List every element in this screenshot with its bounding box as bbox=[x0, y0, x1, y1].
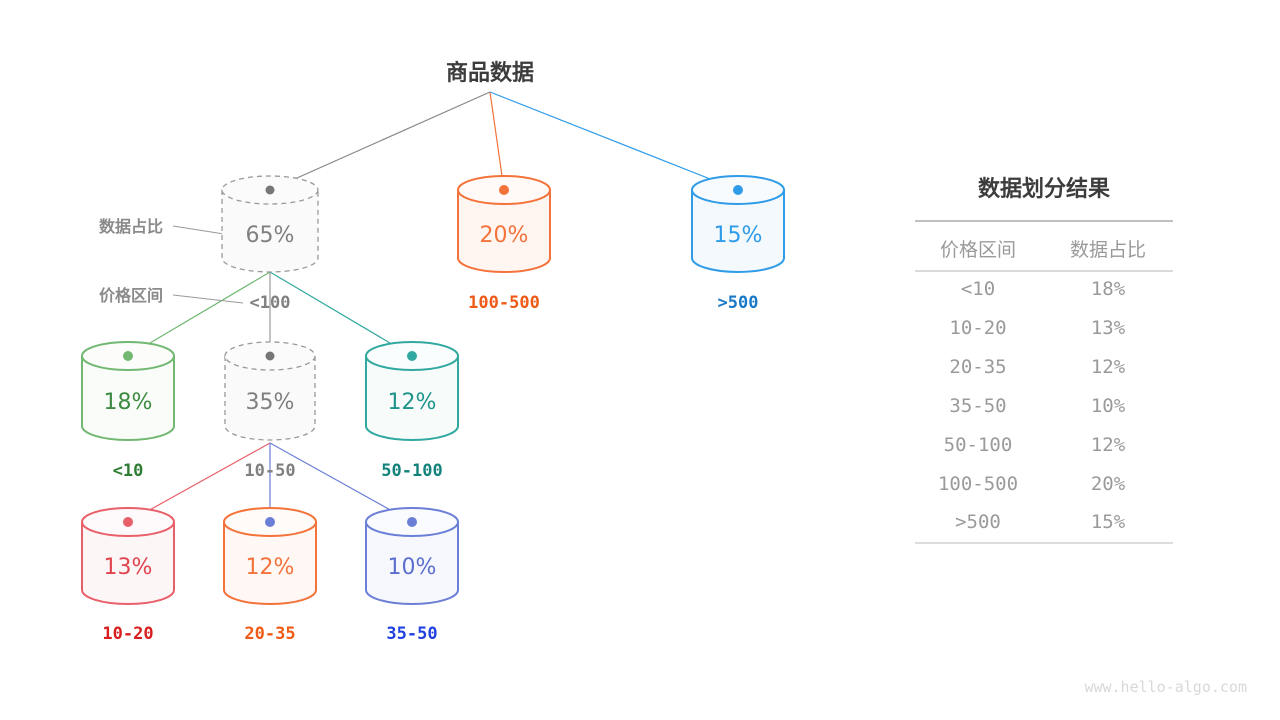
node-range-100-500: 100-500 bbox=[468, 293, 540, 313]
node-range-lt10: <10 bbox=[113, 461, 144, 481]
node-percent: 35% bbox=[246, 390, 295, 415]
node-100-500[interactable]: 20% bbox=[458, 176, 550, 272]
node-percent: 18% bbox=[104, 390, 153, 415]
node-percent: 10% bbox=[388, 555, 437, 580]
annotation-ratio-label: 数据占比 bbox=[99, 217, 163, 236]
node-20-35[interactable]: 12% bbox=[224, 508, 316, 604]
node-range-35-50: 35-50 bbox=[386, 624, 437, 644]
table-row: 20-35 12% bbox=[949, 356, 1125, 378]
anchor-dot bbox=[266, 186, 275, 195]
node-range-20-35: 20-35 bbox=[244, 624, 295, 644]
cell-range: 35-50 bbox=[949, 395, 1006, 417]
table-header-ratio: 数据占比 bbox=[1070, 239, 1146, 261]
table-header-range: 价格区间 bbox=[940, 239, 1016, 261]
cell-ratio: 15% bbox=[1091, 511, 1126, 533]
anchor-dot bbox=[733, 185, 743, 195]
connector-root-gt500 bbox=[490, 92, 738, 190]
annotation-range-label: 价格区间 bbox=[99, 286, 163, 305]
node-35-50[interactable]: 10% bbox=[366, 508, 458, 604]
anchor-dot bbox=[266, 352, 275, 361]
node-percent: 13% bbox=[104, 555, 153, 580]
node-lt10[interactable]: 18% bbox=[82, 342, 174, 440]
node-range-50-100: 50-100 bbox=[381, 461, 442, 481]
table-row: >500 15% bbox=[955, 511, 1126, 533]
node-lt100[interactable]: 65% bbox=[222, 176, 318, 272]
cell-ratio: 12% bbox=[1091, 356, 1126, 378]
node-10-20[interactable]: 13% bbox=[82, 508, 174, 604]
table-row: <10 18% bbox=[961, 278, 1126, 300]
cell-ratio: 20% bbox=[1091, 473, 1126, 495]
cell-range: 100-500 bbox=[938, 473, 1018, 495]
connector-root-lt100 bbox=[270, 92, 490, 190]
anchor-dot bbox=[407, 517, 417, 527]
leader-range bbox=[173, 295, 243, 303]
cell-range: 20-35 bbox=[949, 356, 1006, 378]
node-10-50[interactable]: 35% bbox=[225, 342, 315, 440]
cell-ratio: 10% bbox=[1091, 395, 1126, 417]
diagram-canvas: .pct { font-family:"DejaVu Sans","Libera… bbox=[0, 0, 1280, 720]
leader-ratio bbox=[173, 226, 224, 234]
node-range-lt100: <100 bbox=[250, 293, 291, 313]
table-row: 10-20 13% bbox=[949, 317, 1125, 339]
cell-range: 50-100 bbox=[944, 434, 1013, 456]
anchor-dot bbox=[123, 351, 133, 361]
node-percent: 65% bbox=[246, 223, 295, 248]
node-range-10-20: 10-20 bbox=[102, 624, 153, 644]
node-percent: 15% bbox=[714, 223, 763, 248]
result-table: 数据划分结果 价格区间 数据占比 <10 18% 10-20 13% 20-35… bbox=[915, 176, 1173, 543]
node-range-gt500: >500 bbox=[718, 293, 759, 313]
node-percent: 12% bbox=[388, 390, 437, 415]
anchor-dot bbox=[499, 185, 509, 195]
tree-diagram: .pct { font-family:"DejaVu Sans","Libera… bbox=[0, 0, 1280, 720]
node-range-10-50: 10-50 bbox=[244, 461, 295, 481]
anchor-dot bbox=[265, 517, 275, 527]
node-50-100[interactable]: 12% bbox=[366, 342, 458, 440]
node-gt500[interactable]: 15% bbox=[692, 176, 784, 272]
cell-range: 10-20 bbox=[949, 317, 1006, 339]
node-percent: 20% bbox=[480, 223, 529, 248]
node-percent: 12% bbox=[246, 555, 295, 580]
watermark: www.hello-algo.com bbox=[1084, 678, 1247, 696]
anchor-dot bbox=[123, 517, 133, 527]
cell-range: >500 bbox=[955, 511, 1001, 533]
table-row: 50-100 12% bbox=[944, 434, 1126, 456]
table-title: 数据划分结果 bbox=[978, 176, 1110, 202]
page-title: 商品数据 bbox=[446, 60, 534, 86]
cell-ratio: 18% bbox=[1091, 278, 1126, 300]
cell-ratio: 13% bbox=[1091, 317, 1126, 339]
cell-ratio: 12% bbox=[1091, 434, 1126, 456]
cell-range: <10 bbox=[961, 278, 995, 300]
table-row: 35-50 10% bbox=[949, 395, 1125, 417]
table-row: 100-500 20% bbox=[938, 473, 1126, 495]
anchor-dot bbox=[407, 351, 417, 361]
